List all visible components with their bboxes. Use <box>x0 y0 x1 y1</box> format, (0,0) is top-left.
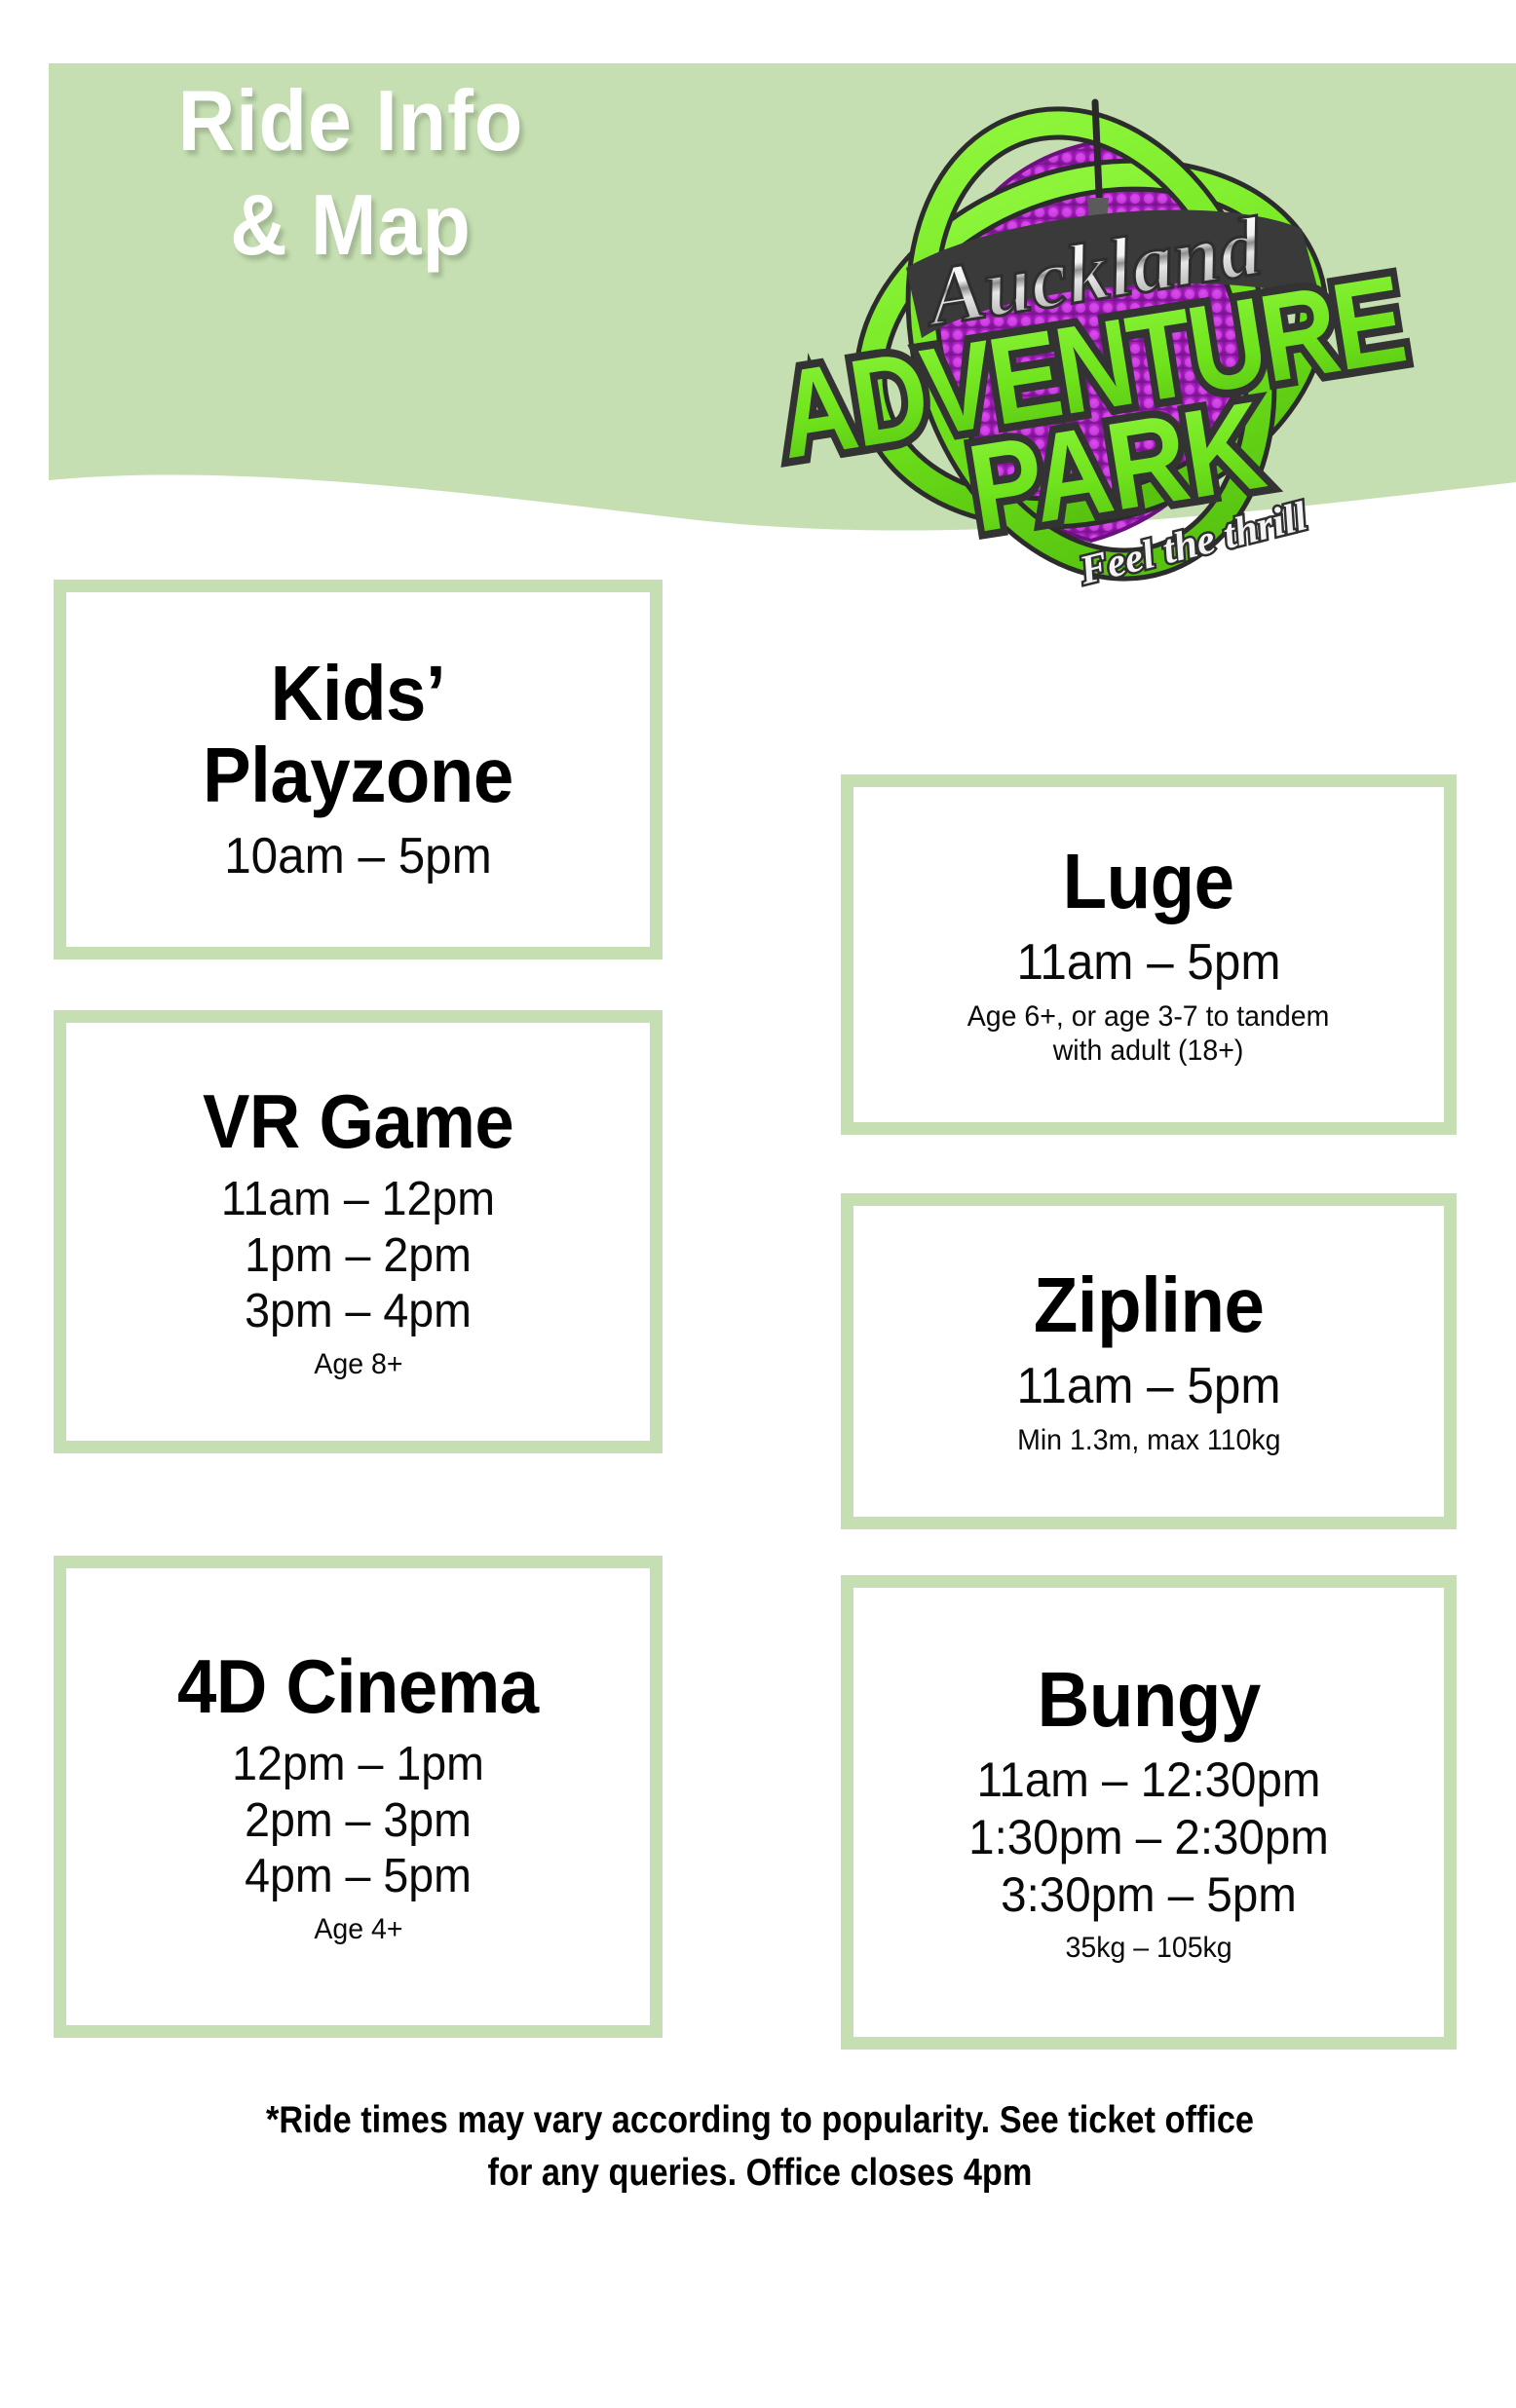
ride-times: 11am – 5pm <box>867 1357 1430 1416</box>
ride-title: Bungy <box>1037 1659 1260 1742</box>
ride-times: 12pm – 1pm 2pm – 3pm 4pm – 5pm <box>80 1737 636 1905</box>
ride-time-slot: 11am – 12:30pm <box>881 1751 1416 1809</box>
ride-restriction-note: Age 6+, or age 3-7 to tandem with adult … <box>967 1000 1330 1069</box>
ride-title: 4D Cinema <box>177 1646 539 1727</box>
ride-title: Luge <box>1063 841 1234 923</box>
page-title-line-1: Ride Info <box>73 68 628 172</box>
ride-restriction-note: Age 4+ <box>314 1913 402 1947</box>
ride-time-slot: 11am – 5pm <box>881 1357 1416 1416</box>
ride-title: Zipline <box>1034 1264 1264 1347</box>
ride-card-bungy[interactable]: Bungy 11am – 12:30pm 1:30pm – 2:30pm 3:3… <box>841 1575 1457 2050</box>
ride-time-slot: 3pm – 4pm <box>94 1284 622 1340</box>
ride-time-slot: 10am – 5pm <box>94 827 622 886</box>
ride-restriction-note: Age 8+ <box>314 1348 402 1382</box>
ride-title: VR Game <box>203 1081 513 1162</box>
ride-card-kids-playzone[interactable]: Kids’ Playzone 10am – 5pm <box>54 580 663 959</box>
ride-card-zipline[interactable]: Zipline 11am – 5pm Min 1.3m, max 110kg <box>841 1193 1457 1529</box>
ride-times: 11am – 12:30pm 1:30pm – 2:30pm 3:30pm – … <box>867 1751 1430 1924</box>
logo-artwork: Auckland ADVENTURE PARK Feel the thrill <box>760 83 1422 609</box>
ride-time-slot: 1pm – 2pm <box>94 1228 622 1285</box>
ride-restriction-note: 35kg – 105kg <box>1065 1932 1232 1966</box>
footer-disclaimer: *Ride times may vary according to popula… <box>194 2094 1326 2200</box>
ride-card-luge[interactable]: Luge 11am – 5pm Age 6+, or age 3-7 to ta… <box>841 774 1457 1135</box>
ride-time-slot: 4pm – 5pm <box>94 1849 622 1905</box>
ride-time-slot: 11am – 12pm <box>94 1172 622 1228</box>
ride-time-slot: 12pm – 1pm <box>94 1737 622 1793</box>
ride-time-slot: 3:30pm – 5pm <box>881 1866 1416 1924</box>
page-title: Ride Info & Map <box>73 68 628 278</box>
ride-card-4d-cinema[interactable]: 4D Cinema 12pm – 1pm 2pm – 3pm 4pm – 5pm… <box>54 1556 663 2038</box>
ride-card-vr-game[interactable]: VR Game 11am – 12pm 1pm – 2pm 3pm – 4pm … <box>54 1010 663 1453</box>
adventure-park-logo: Auckland ADVENTURE PARK Feel the thrill <box>760 83 1422 609</box>
ride-title: Kids’ Playzone <box>203 653 513 818</box>
ride-time-slot: 1:30pm – 2:30pm <box>881 1809 1416 1866</box>
ride-restriction-note: Min 1.3m, max 110kg <box>1017 1424 1280 1458</box>
ride-times: 11am – 12pm 1pm – 2pm 3pm – 4pm <box>80 1172 636 1340</box>
page-title-line-2: & Map <box>73 172 628 277</box>
ride-time-slot: 2pm – 3pm <box>94 1793 622 1850</box>
ride-times: 10am – 5pm <box>80 827 636 886</box>
ride-time-slot: 11am – 5pm <box>881 933 1416 993</box>
ride-times: 11am – 5pm <box>867 933 1430 993</box>
